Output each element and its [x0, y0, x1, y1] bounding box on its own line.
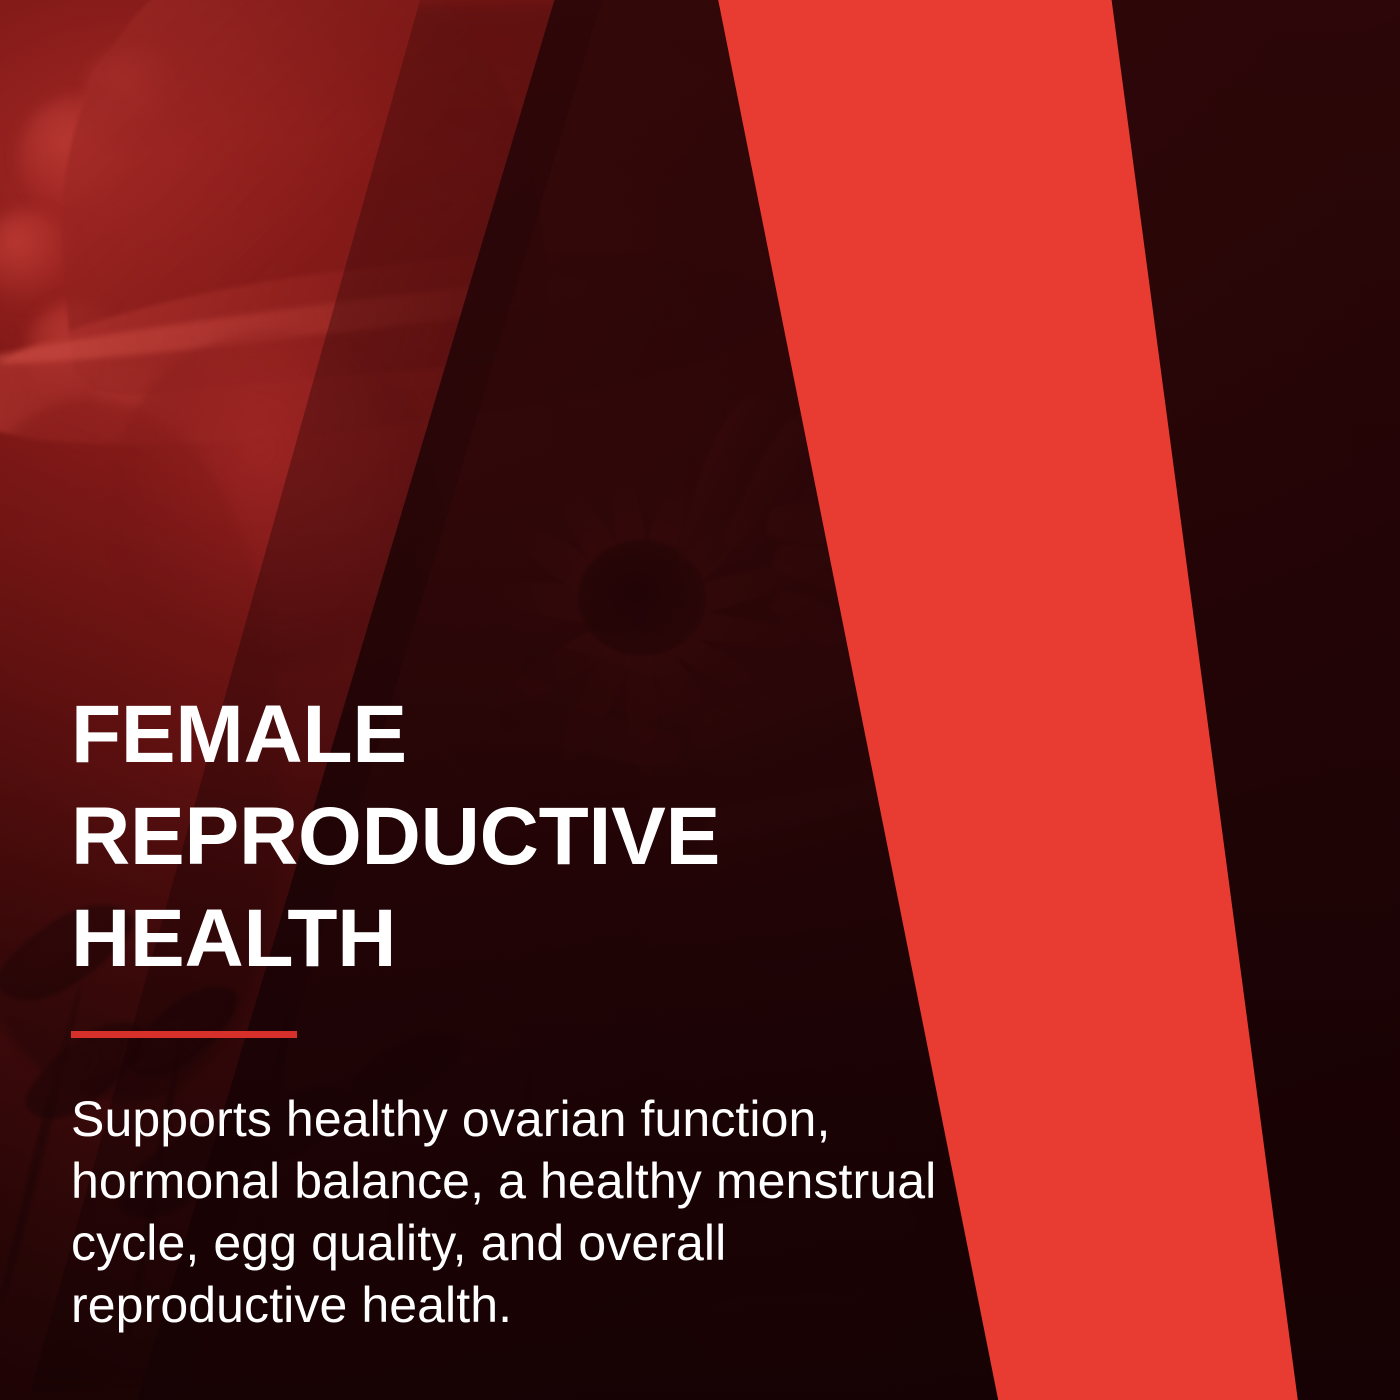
- title-divider-rule: [71, 1031, 297, 1038]
- text-content-block: FEMALE REPRODUCTIVE HEALTH Supports heal…: [71, 684, 1021, 1336]
- description-text: Supports healthy ovarian function, hormo…: [71, 1088, 1001, 1336]
- page-title: FEMALE REPRODUCTIVE HEALTH: [71, 684, 1021, 990]
- promo-banner: FEMALE REPRODUCTIVE HEALTH Supports heal…: [0, 0, 1400, 1400]
